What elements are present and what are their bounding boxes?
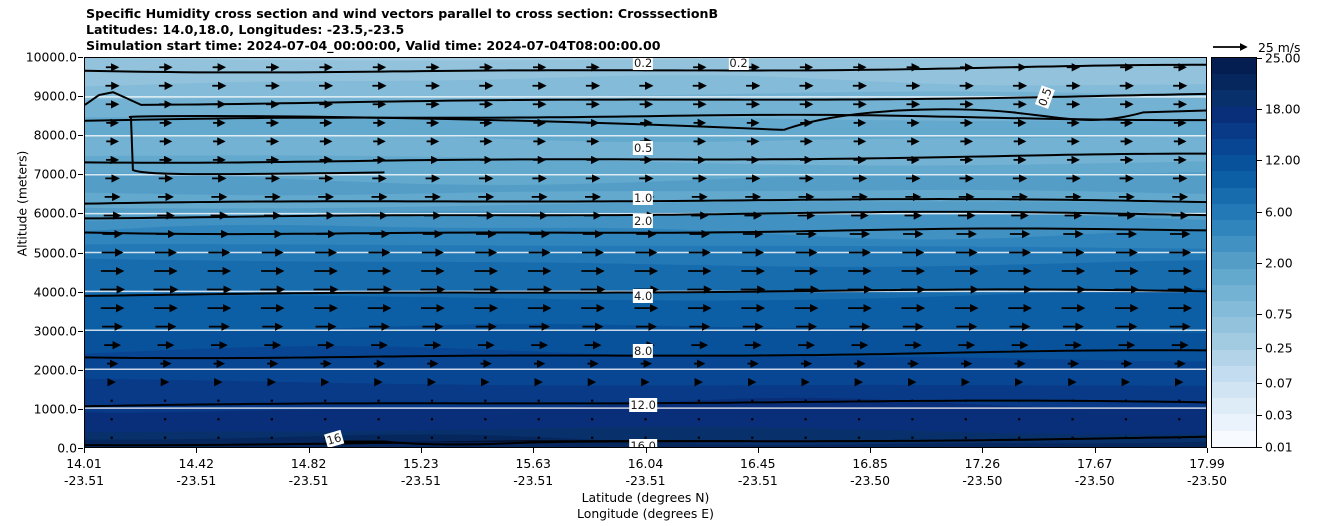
x-axis-tick-label-group: 16.85-23.50: [850, 455, 890, 489]
colorbar-band: [1212, 398, 1256, 414]
colorbar-tick-mark: [1257, 447, 1262, 448]
x-axis-tick-label-lat: 14.01: [64, 455, 104, 472]
y-axis-tick-label: 6000.0: [34, 206, 77, 221]
arrow-right-icon: [1212, 40, 1254, 54]
colorbar-tick-label: 12.00: [1265, 153, 1300, 168]
x-axis-label-latitude: Latitude (degrees N): [84, 490, 1207, 505]
colorbar-tick-mark: [1257, 109, 1262, 110]
colorbar-band: [1212, 414, 1256, 430]
figure-title: Specific Humidity cross section and wind…: [86, 6, 718, 55]
colorbar-band: [1212, 123, 1256, 139]
colorbar-band: [1212, 382, 1256, 398]
colorbar-tick-mark: [1257, 58, 1262, 59]
contour-labels: 0.20.20.50.51.02.04.08.012.016.016: [85, 58, 1206, 447]
x-axis-tick-label-lon: -23.51: [626, 472, 666, 489]
colorbar-tick-label: 2.00: [1265, 255, 1293, 270]
x-axis-tick-label-lat: 17.26: [962, 455, 1002, 472]
x-axis-tick-label-lat: 16.85: [850, 455, 890, 472]
x-axis-tick-label-group: 16.45-23.51: [738, 455, 778, 489]
colorbar-band: [1212, 350, 1256, 366]
x-axis-tick-label-lon: -23.51: [176, 472, 216, 489]
colorbar-band: [1212, 431, 1256, 447]
colorbar-tick-label: 6.00: [1265, 204, 1293, 219]
colorbar-band: [1212, 285, 1256, 301]
colorbar-ticks: 25.0018.0012.006.002.000.750.250.070.030…: [1257, 57, 1326, 448]
colorbar-band: [1212, 139, 1256, 155]
y-axis-tick-mark: [78, 174, 83, 175]
colorbar-band: [1212, 236, 1256, 252]
x-axis-tick-mark: [533, 448, 534, 453]
x-axis-tick-mark: [196, 448, 197, 453]
colorbar-band: [1212, 269, 1256, 285]
contour-label: 0.2: [633, 57, 653, 70]
y-axis-tick-label: 9000.0: [34, 89, 77, 104]
x-axis-tick-label-group: 17.67-23.50: [1075, 455, 1115, 489]
contour-label: 16.0: [629, 439, 657, 448]
cross-section-plot: 0.20.20.50.51.02.04.08.012.016.016: [84, 57, 1207, 448]
x-axis-tick-label-group: 17.99-23.50: [1187, 455, 1227, 489]
x-axis-tick-label-group: 14.01-23.51: [64, 455, 104, 489]
contour-label: 8.0: [633, 344, 653, 358]
y-axis-tick-mark: [78, 370, 83, 371]
x-axis-tick-label-lat: 16.04: [626, 455, 666, 472]
y-axis-tick-label: 5000.0: [34, 245, 77, 260]
x-axis-tick-label-lon: -23.51: [513, 472, 553, 489]
y-axis-tick-label: 0.0: [57, 441, 77, 456]
colorbar-tick-label: 25.00: [1265, 51, 1300, 66]
colorbar-band: [1212, 74, 1256, 90]
contour-label: 0.5: [1035, 85, 1055, 109]
colorbar-tick-label: 0.07: [1265, 375, 1293, 390]
contour-label: 1.0: [633, 191, 653, 205]
x-axis-tick-label-lat: 15.23: [401, 455, 441, 472]
x-axis-tick-label-group: 14.82-23.51: [289, 455, 329, 489]
colorbar-band: [1212, 58, 1256, 74]
y-axis-tick-mark: [78, 135, 83, 136]
y-axis-tick-mark: [78, 331, 83, 332]
x-axis-tick-mark: [870, 448, 871, 453]
x-axis-tick-label-lon: -23.50: [962, 472, 1002, 489]
colorbar-band: [1212, 252, 1256, 268]
colorbar-band: [1212, 301, 1256, 317]
colorbar-band: [1212, 204, 1256, 220]
y-axis-label: Altitude (meters): [15, 94, 30, 314]
colorbar-band: [1212, 220, 1256, 236]
x-axis-tick-label-lon: -23.51: [289, 472, 329, 489]
colorbar-tick-label: 0.75: [1265, 306, 1293, 321]
colorbar-band: [1212, 155, 1256, 171]
x-axis-tick-mark: [1095, 448, 1096, 453]
x-axis-tick-label-group: 17.26-23.50: [962, 455, 1002, 489]
colorbar: [1211, 57, 1257, 448]
y-axis-tick-label: 10000.0: [26, 50, 77, 65]
contour-label: 0.5: [633, 141, 653, 155]
colorbar-tick-mark: [1257, 263, 1262, 264]
x-axis-tick-mark: [1207, 448, 1208, 453]
x-axis-tick-label-lon: -23.51: [64, 472, 104, 489]
x-axis-tick-mark: [84, 448, 85, 453]
contour-label: 2.0: [633, 214, 653, 228]
colorbar-tick-mark: [1257, 415, 1262, 416]
y-axis-tick-label: 1000.0: [34, 401, 77, 416]
y-axis-tick-mark: [78, 448, 83, 449]
x-axis-tick-label-lat: 14.42: [176, 455, 216, 472]
x-axis-tick-mark: [982, 448, 983, 453]
colorbar-tick-mark: [1257, 314, 1262, 315]
x-axis-tick-label-group: 15.23-23.51: [401, 455, 441, 489]
colorbar-tick-mark: [1257, 348, 1262, 349]
x-axis-tick-label-lon: -23.50: [1075, 472, 1115, 489]
x-axis-tick-mark: [758, 448, 759, 453]
contour-label: 16: [324, 430, 344, 448]
contour-label: 0.2: [728, 57, 748, 70]
colorbar-tick-mark: [1257, 160, 1262, 161]
x-axis-tick-label-lon: -23.51: [738, 472, 778, 489]
x-axis-label-longitude: Longitude (degrees E): [84, 506, 1207, 521]
colorbar-tick-mark: [1257, 383, 1262, 384]
x-axis-tick-label-lon: -23.50: [850, 472, 890, 489]
x-axis-tick-mark: [646, 448, 647, 453]
x-axis-tick-label-lat: 17.67: [1075, 455, 1115, 472]
x-axis-tick-label-group: 16.04-23.51: [626, 455, 666, 489]
colorbar-band: [1212, 333, 1256, 349]
colorbar-tick-mark: [1257, 212, 1262, 213]
x-axis-tick-label-lat: 17.99: [1187, 455, 1227, 472]
x-axis-tick-mark: [421, 448, 422, 453]
y-axis-tick-mark: [78, 253, 83, 254]
x-axis-tick-label-lon: -23.51: [401, 472, 441, 489]
x-axis-tick-label-group: 15.63-23.51: [513, 455, 553, 489]
figure-canvas: Specific Humidity cross section and wind…: [0, 0, 1326, 526]
y-axis-tick-label: 7000.0: [34, 167, 77, 182]
colorbar-band: [1212, 107, 1256, 123]
y-axis-tick-labels: 10000.09000.08000.07000.06000.05000.0400…: [0, 57, 77, 448]
x-axis-tick-mark: [309, 448, 310, 453]
y-axis-tick-label: 3000.0: [34, 323, 77, 338]
colorbar-tick-label: 0.03: [1265, 407, 1293, 422]
title-line-3: Simulation start time: 2024-07-04_00:00:…: [86, 38, 718, 54]
contour-label: 12.0: [629, 398, 657, 412]
y-axis-tick-mark: [78, 409, 83, 410]
x-axis-tick-label-lat: 15.63: [513, 455, 553, 472]
title-line-1: Specific Humidity cross section and wind…: [86, 6, 718, 22]
y-axis-tick-label: 4000.0: [34, 284, 77, 299]
y-axis-tick-mark: [78, 213, 83, 214]
x-axis-tick-label-lon: -23.50: [1187, 472, 1227, 489]
y-axis-tick-mark: [78, 57, 83, 58]
colorbar-band: [1212, 317, 1256, 333]
y-axis-tick-mark: [78, 96, 83, 97]
title-line-2: Latitudes: 14.0,18.0, Longitudes: -23.5,…: [86, 22, 718, 38]
colorbar-tick-label: 0.25: [1265, 341, 1293, 356]
x-axis-tick-label-lat: 16.45: [738, 455, 778, 472]
x-axis-tick-marks: [84, 448, 1207, 454]
contour-label: 4.0: [633, 289, 653, 303]
y-axis-tick-mark: [78, 292, 83, 293]
colorbar-band: [1212, 188, 1256, 204]
colorbar-band: [1212, 90, 1256, 106]
colorbar-band: [1212, 366, 1256, 382]
y-axis-tick-label: 2000.0: [34, 362, 77, 377]
colorbar-band: [1212, 171, 1256, 187]
colorbar-tick-label: 0.01: [1265, 440, 1293, 455]
x-axis-tick-labels: 14.01-23.5114.42-23.5114.82-23.5115.23-2…: [0, 455, 1326, 495]
x-axis-tick-label-lat: 14.82: [289, 455, 329, 472]
y-axis-tick-label: 8000.0: [34, 128, 77, 143]
colorbar-tick-label: 18.00: [1265, 102, 1300, 117]
x-axis-tick-label-group: 14.42-23.51: [176, 455, 216, 489]
